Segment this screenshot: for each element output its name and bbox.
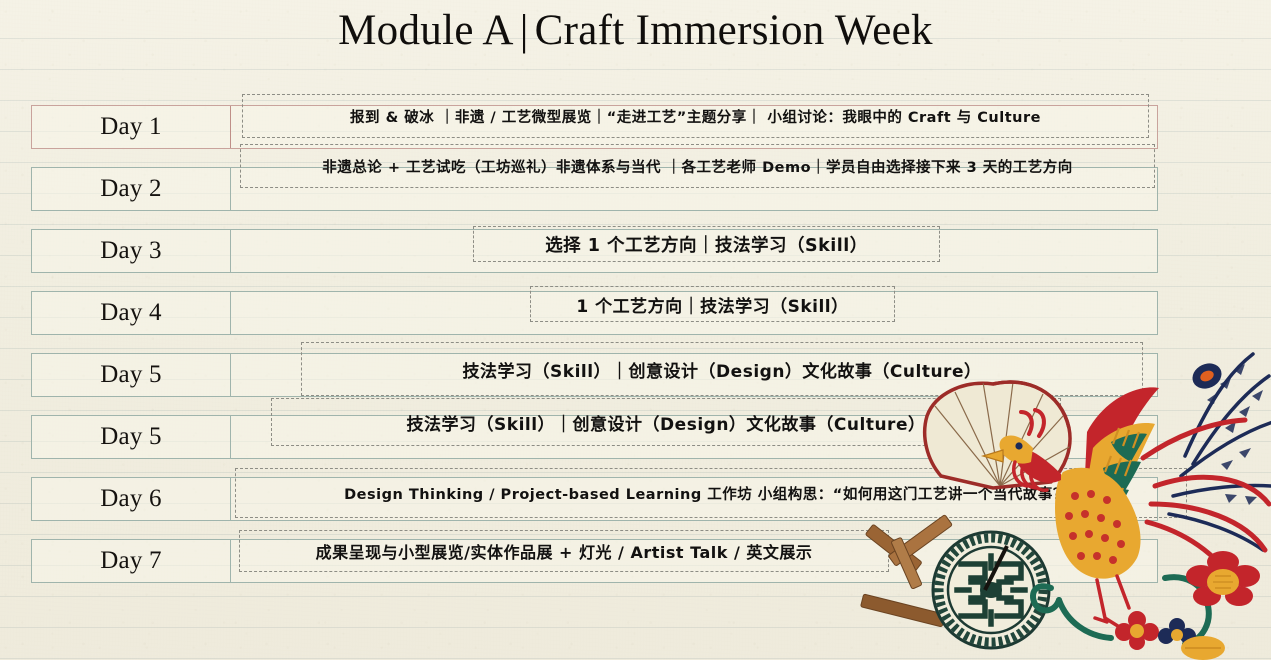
day-label: Day 2: [32, 168, 231, 210]
schedule-row[interactable]: Day 5技法学习（Skill）｜创意设计（Design）文化故事（Cultur…: [31, 353, 1158, 397]
day-activity-textbox[interactable]: 技法学习（Skill）｜创意设计（Design）文化故事（Culture）: [271, 398, 1061, 446]
schedule-row[interactable]: Day 7成果呈现与小型展览/实体作品展 + 灯光 / Artist Talk …: [31, 539, 1158, 583]
schedule-table: Day 1报到 & 破冰 ｜非遗 / 工艺微型展览｜“走进工艺”主题分享｜ 小组…: [31, 105, 1158, 601]
day-label: Day 5: [32, 354, 231, 396]
day-activity-textbox[interactable]: 成果呈现与小型展览/实体作品展 + 灯光 / Artist Talk / 英文展…: [239, 530, 889, 572]
day-content-cell: 非遗总论 + 工艺试吃（工坊巡礼）非遗体系与当代 ｜各工艺老师 Demo｜学员自…: [231, 168, 1157, 210]
day-activity-textbox[interactable]: 报到 & 破冰 ｜非遗 / 工艺微型展览｜“走进工艺”主题分享｜ 小组讨论：我眼…: [242, 94, 1149, 138]
phoenix-tail-feathers: [1169, 354, 1271, 550]
page-title-left: Module A: [338, 7, 514, 54]
day-label: Day 5: [32, 416, 231, 458]
day-content-cell: 技法学习（Skill）｜创意设计（Design）文化故事（Culture）: [231, 354, 1157, 396]
schedule-row[interactable]: Day 2非遗总论 + 工艺试吃（工坊巡礼）非遗体系与当代 ｜各工艺老师 Dem…: [31, 167, 1158, 211]
day-label: Day 7: [32, 540, 231, 582]
day-label: Day 4: [32, 292, 231, 334]
peony-flower-small: [1115, 611, 1159, 650]
page-title-separator: |: [514, 7, 535, 54]
day-content-cell: 1 个工艺方向｜技法学习（Skill）: [231, 292, 1157, 334]
page-title: Module A|Craft Immersion Week: [0, 6, 1271, 55]
day-content-cell: 技法学习（Skill）｜创意设计（Design）文化故事（Culture）: [231, 416, 1157, 458]
day-content-cell: 成果呈现与小型展览/实体作品展 + 灯光 / Artist Talk / 英文展…: [231, 540, 1157, 582]
peony-flower-navy: [1158, 618, 1196, 644]
day-activity-textbox[interactable]: 选择 1 个工艺方向｜技法学习（Skill）: [473, 226, 940, 262]
day-label: Day 1: [32, 106, 231, 148]
phoenix-tail-barbs: [1207, 364, 1263, 505]
slide-canvas: Module A|Craft Immersion Week Day 1报到 & …: [0, 0, 1271, 660]
schedule-row[interactable]: Day 3选择 1 个工艺方向｜技法学习（Skill）: [31, 229, 1158, 273]
day-content-cell: 报到 & 破冰 ｜非遗 / 工艺微型展览｜“走进工艺”主题分享｜ 小组讨论：我眼…: [231, 106, 1157, 148]
day-activity-textbox[interactable]: Design Thinking / Project-based Learning…: [235, 468, 1187, 518]
day-label: Day 6: [32, 478, 231, 520]
day-activity-textbox[interactable]: 1 个工艺方向｜技法学习（Skill）: [530, 286, 895, 322]
schedule-row[interactable]: Day 6Design Thinking / Project-based Lea…: [31, 477, 1158, 521]
page-title-right: Craft Immersion Week: [535, 7, 933, 54]
phoenix-plume-eye: [1188, 359, 1225, 393]
peony-leaf-gold: [1181, 636, 1225, 660]
day-activity-textbox[interactable]: 非遗总论 + 工艺试吃（工坊巡礼）非遗体系与当代 ｜各工艺老师 Demo｜学员自…: [240, 144, 1155, 188]
day-content-cell: 选择 1 个工艺方向｜技法学习（Skill）: [231, 230, 1157, 272]
day-label: Day 3: [32, 230, 231, 272]
day-activity-textbox[interactable]: 技法学习（Skill）｜创意设计（Design）文化故事（Culture）: [301, 342, 1143, 396]
schedule-row[interactable]: Day 1报到 & 破冰 ｜非遗 / 工艺微型展览｜“走进工艺”主题分享｜ 小组…: [31, 105, 1158, 149]
schedule-row[interactable]: Day 5技法学习（Skill）｜创意设计（Design）文化故事（Cultur…: [31, 415, 1158, 459]
peony-flower-large: [1186, 551, 1260, 606]
day-content-cell: Design Thinking / Project-based Learning…: [231, 478, 1157, 520]
schedule-row[interactable]: Day 41 个工艺方向｜技法学习（Skill）: [31, 291, 1158, 335]
